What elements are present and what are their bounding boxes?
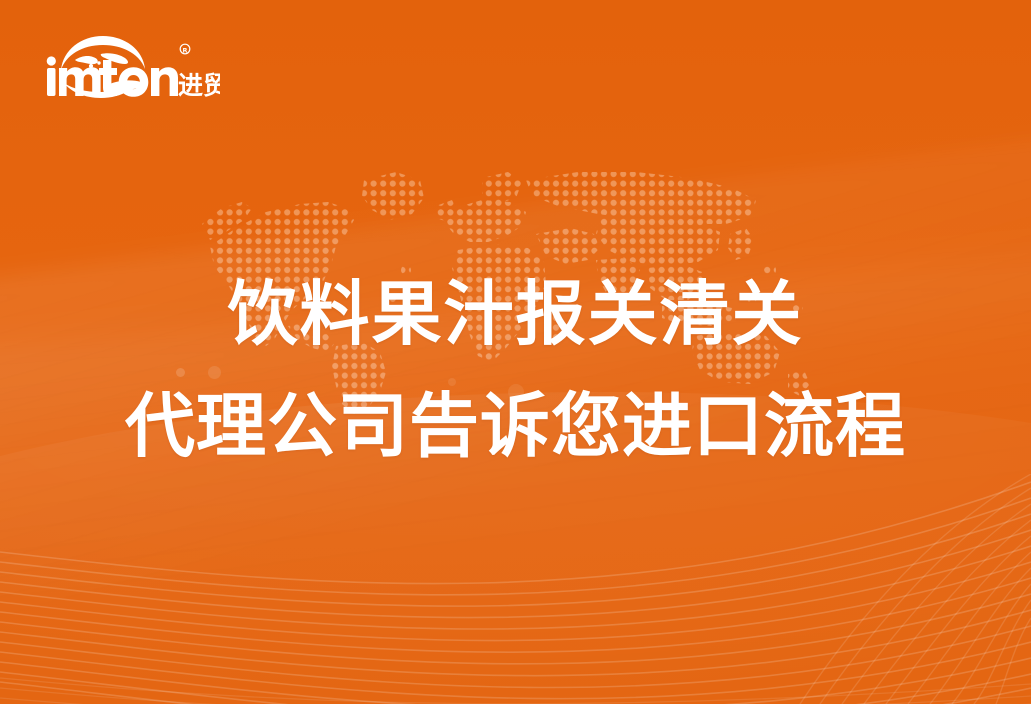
svg-text:R: R (183, 47, 188, 55)
logo[interactable]: 进贸通 R (45, 30, 220, 102)
dotted-world-map (196, 150, 816, 418)
promo-banner: 进贸通 R 饮料果汁报关清关 代理公司告诉您进口流程 (0, 0, 1031, 704)
logo-chinese-wordmark: 进贸通 (178, 71, 220, 100)
logo-mark-icon: 进贸通 R (45, 30, 220, 102)
